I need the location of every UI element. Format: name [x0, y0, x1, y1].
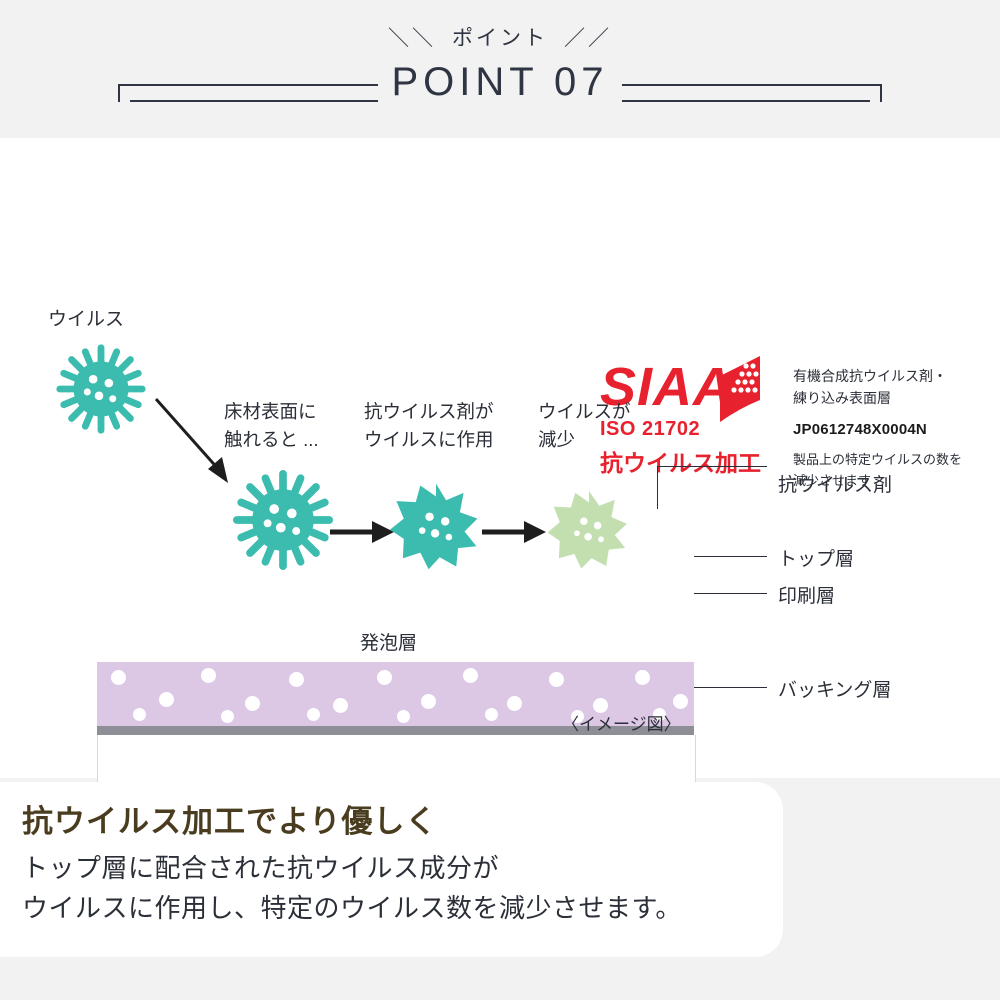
virus-label: ウイルス: [48, 306, 124, 334]
backing-layer-label: バッキング層: [778, 675, 891, 702]
virus-reacting-icon: [390, 480, 482, 572]
summary-panel: 抗ウイルス加工でより優しく トップ層に配合された抗ウイルス成分が ウイルスに作用…: [0, 782, 783, 957]
diagram-panel: SIAA ISO 21702 抗ウイルス加工 有機合成抗ウイルス剤・ 練り込み表…: [0, 138, 1000, 778]
step-label-2: 抗ウイルス剤が ウイルスに作用: [364, 398, 494, 454]
print-layer-label: 印刷層: [778, 581, 835, 608]
siaa-desc-line1: 有機合成抗ウイルス剤・ 練り込み表面層: [793, 366, 993, 409]
virus-free-icon: [52, 340, 150, 438]
page-title: POINT 07: [0, 60, 1000, 105]
step-arrow-1-icon: [330, 518, 398, 546]
diagram-caption: 〈イメージ図〉: [562, 710, 681, 735]
agent-label: 抗ウイルス剤: [778, 470, 892, 497]
agent-leader-vertical: [657, 466, 658, 509]
siaa-mark-icon: [716, 356, 772, 422]
top-layer-label: トップ層: [778, 544, 854, 571]
page-header: ＼＼ポイント／／ POINT 07: [0, 0, 1000, 138]
step-arrow-2-icon: [482, 518, 550, 546]
foam-layer-label: 発泡層: [360, 628, 417, 655]
virus-reduced-icon: [546, 486, 632, 572]
backing-layer-leader-line: [694, 687, 767, 688]
kicker-slash-right: ／／: [564, 22, 612, 52]
header-kicker: ＼＼ポイント／／: [0, 22, 1000, 52]
step-label-1: 床材表面に 触れると ...: [224, 398, 319, 454]
virus-on-surface-icon: [228, 465, 338, 575]
summary-body: トップ層に配合された抗ウイルス成分が ウイルスに作用し、特定のウイルス数を減少さ…: [22, 848, 682, 929]
agent-leader-line: [657, 466, 767, 467]
top-layer-leader-line: [694, 556, 767, 557]
kicker-text: ポイント: [452, 22, 548, 52]
kicker-slash-left: ＼＼: [388, 22, 436, 52]
print-layer-leader-line: [694, 593, 767, 594]
siaa-registration-code: JP0612748X0004N: [793, 421, 993, 438]
summary-heading: 抗ウイルス加工でより優しく: [22, 796, 437, 841]
step-label-3: ウイルスが 減少: [538, 398, 631, 454]
